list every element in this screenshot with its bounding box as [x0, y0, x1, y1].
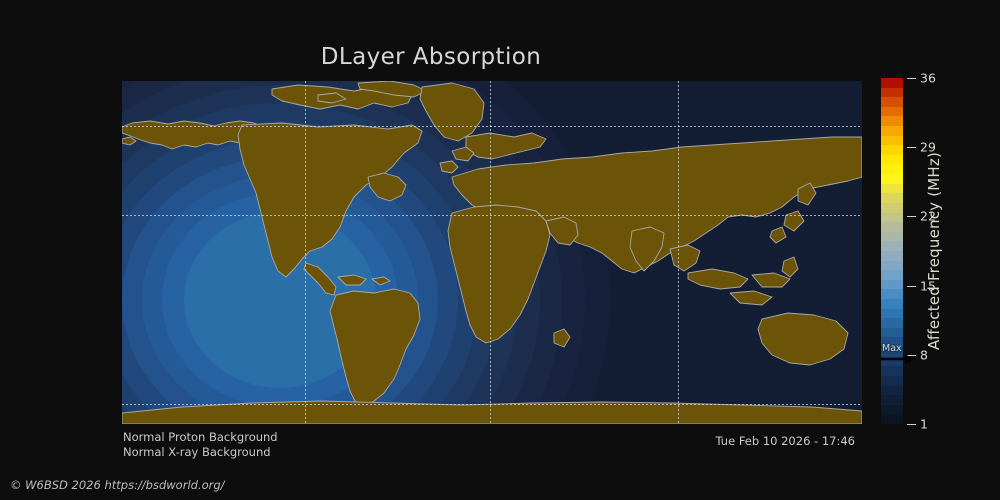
colorbar-axis-label: Affected Frequency (MHz) [923, 78, 945, 424]
colorbar-segment [881, 97, 903, 107]
colorbar-segment [881, 261, 903, 271]
max-marker-label: Max [882, 343, 902, 354]
xray-status-note: Normal X-ray Background [123, 445, 271, 459]
colorbar-segment [881, 193, 903, 203]
colorbar-segment [881, 203, 903, 213]
colorbar-segment [881, 241, 903, 251]
colorbar-segment [881, 251, 903, 261]
colorbar-segment [881, 280, 903, 290]
colorbar-segment [881, 164, 903, 174]
colorbar-segment [881, 222, 903, 232]
colorbar-segment [881, 116, 903, 126]
colorbar-segment [881, 386, 903, 396]
colorbar-segment [881, 405, 903, 415]
colorbar-tick [907, 216, 916, 217]
colorbar-segment [881, 213, 903, 223]
colorbar-segment [881, 299, 903, 309]
world-absorption-map[interactable] [122, 81, 862, 424]
max-absorption-marker: Max [881, 344, 921, 366]
colorbar-segment [881, 270, 903, 280]
colorbar-tick [907, 424, 916, 425]
colorbar-segment [881, 78, 903, 88]
colorbar-segment [881, 289, 903, 299]
colorbar-segment [881, 366, 903, 376]
colorbar-segment [881, 107, 903, 117]
colorbar-segment [881, 232, 903, 242]
colorbar-tick [907, 78, 916, 79]
colorbar-segment [881, 395, 903, 405]
colorbar-segment [881, 88, 903, 98]
colorbar-segment [881, 328, 903, 338]
coastline-layer [122, 81, 862, 424]
colorbar-segment [881, 174, 903, 184]
colorbar-segment [881, 309, 903, 319]
colorbar-segment [881, 155, 903, 165]
colorbar-axis-label-text: Affected Frequency (MHz) [925, 152, 943, 350]
colorbar-segment [881, 318, 903, 328]
colorbar-segment [881, 414, 903, 424]
colorbar-segment [881, 376, 903, 386]
arrow-right-icon [881, 354, 915, 364]
colorbar-segment [881, 126, 903, 136]
colorbar-segment [881, 184, 903, 194]
page-title: DLayer Absorption [0, 44, 862, 70]
app-root: DLayer Absorption [0, 0, 1000, 500]
timestamp-label: Tue Feb 10 2026 - 17:46 [716, 434, 855, 448]
colorbar-tick [907, 147, 916, 148]
proton-status-note: Normal Proton Background [123, 430, 278, 444]
colorbar-segment [881, 145, 903, 155]
affected-frequency-colorbar[interactable] [881, 78, 903, 424]
credit-footer: © W6BSD 2026 https://bsdworld.org/ [10, 478, 225, 492]
colorbar-segment [881, 136, 903, 146]
colorbar-tick [907, 286, 916, 287]
